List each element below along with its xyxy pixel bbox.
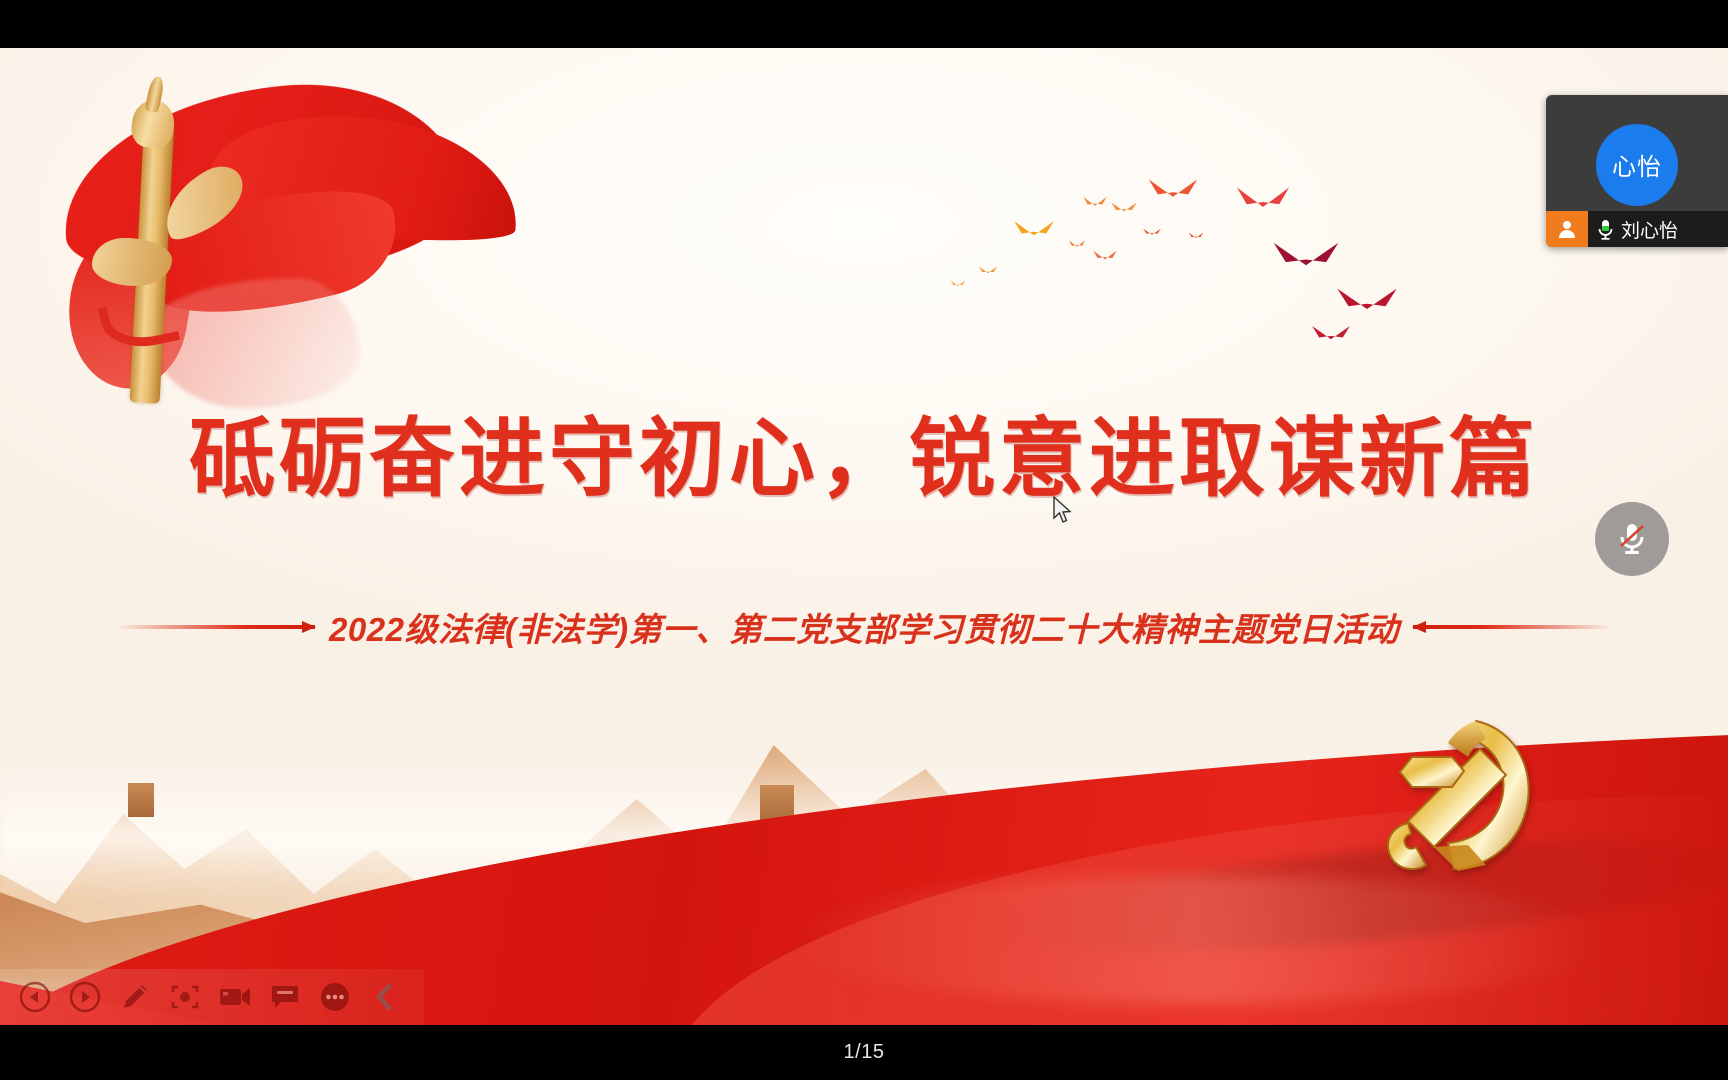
host-badge	[1546, 211, 1588, 247]
chevron-left-icon	[372, 982, 398, 1012]
participant-name-bar: 刘心怡	[1546, 211, 1728, 247]
chat-button[interactable]	[260, 972, 310, 1022]
next-circle-icon	[69, 981, 101, 1013]
participant-name-row: 刘心怡	[1588, 211, 1728, 247]
microphone-icon	[1597, 219, 1614, 240]
more-options-button[interactable]	[310, 972, 360, 1022]
microphone-muted-icon	[1614, 519, 1650, 559]
annotate-pen-button[interactable]	[110, 972, 160, 1022]
person-icon	[1556, 218, 1578, 240]
target-icon	[169, 981, 201, 1013]
collapse-toolbar-button[interactable]	[360, 972, 410, 1022]
red-flag-graphic	[40, 78, 510, 388]
slide-canvas[interactable]: 砥砺奋进守初心，锐意进取谋新篇 2022级法律(非法学)第一、第二党支部学习贯彻…	[0, 48, 1728, 1025]
flag-pole-side-ornament	[92, 238, 172, 286]
presentation-toolbar[interactable]	[0, 969, 424, 1025]
participant-video-tile[interactable]: 心怡 刘心怡	[1546, 95, 1728, 247]
avatar: 心怡	[1596, 124, 1678, 206]
video-button[interactable]	[210, 972, 260, 1022]
laser-pointer-button[interactable]	[160, 972, 210, 1022]
previous-slide-button[interactable]	[10, 972, 60, 1022]
prev-circle-icon	[19, 981, 51, 1013]
camcorder-icon	[218, 982, 252, 1012]
mouse-cursor	[1052, 496, 1074, 526]
microphone-mute-button[interactable]	[1595, 502, 1669, 576]
red-wave-sheen	[788, 875, 1608, 1005]
slide-title: 砥砺奋进守初心，锐意进取谋新篇	[0, 388, 1728, 513]
page-indicator: 1/15	[844, 1041, 885, 1064]
participant-name: 刘心怡	[1621, 216, 1678, 243]
presentation-viewer: 砥砺奋进守初心，锐意进取谋新篇 2022级法律(非法学)第一、第二党支部学习贯彻…	[0, 0, 1728, 1080]
page-indicator-bar: 1/15	[0, 1025, 1728, 1080]
flying-birds-dark-graphic	[1260, 233, 1440, 373]
cursor-arrow-icon	[1052, 496, 1074, 526]
pencil-icon	[119, 981, 151, 1013]
next-slide-button[interactable]	[60, 972, 110, 1022]
chat-bubble-icon	[269, 982, 301, 1012]
cpc-emblem-graphic	[1368, 705, 1568, 885]
ellipsis-circle-icon	[319, 981, 351, 1013]
